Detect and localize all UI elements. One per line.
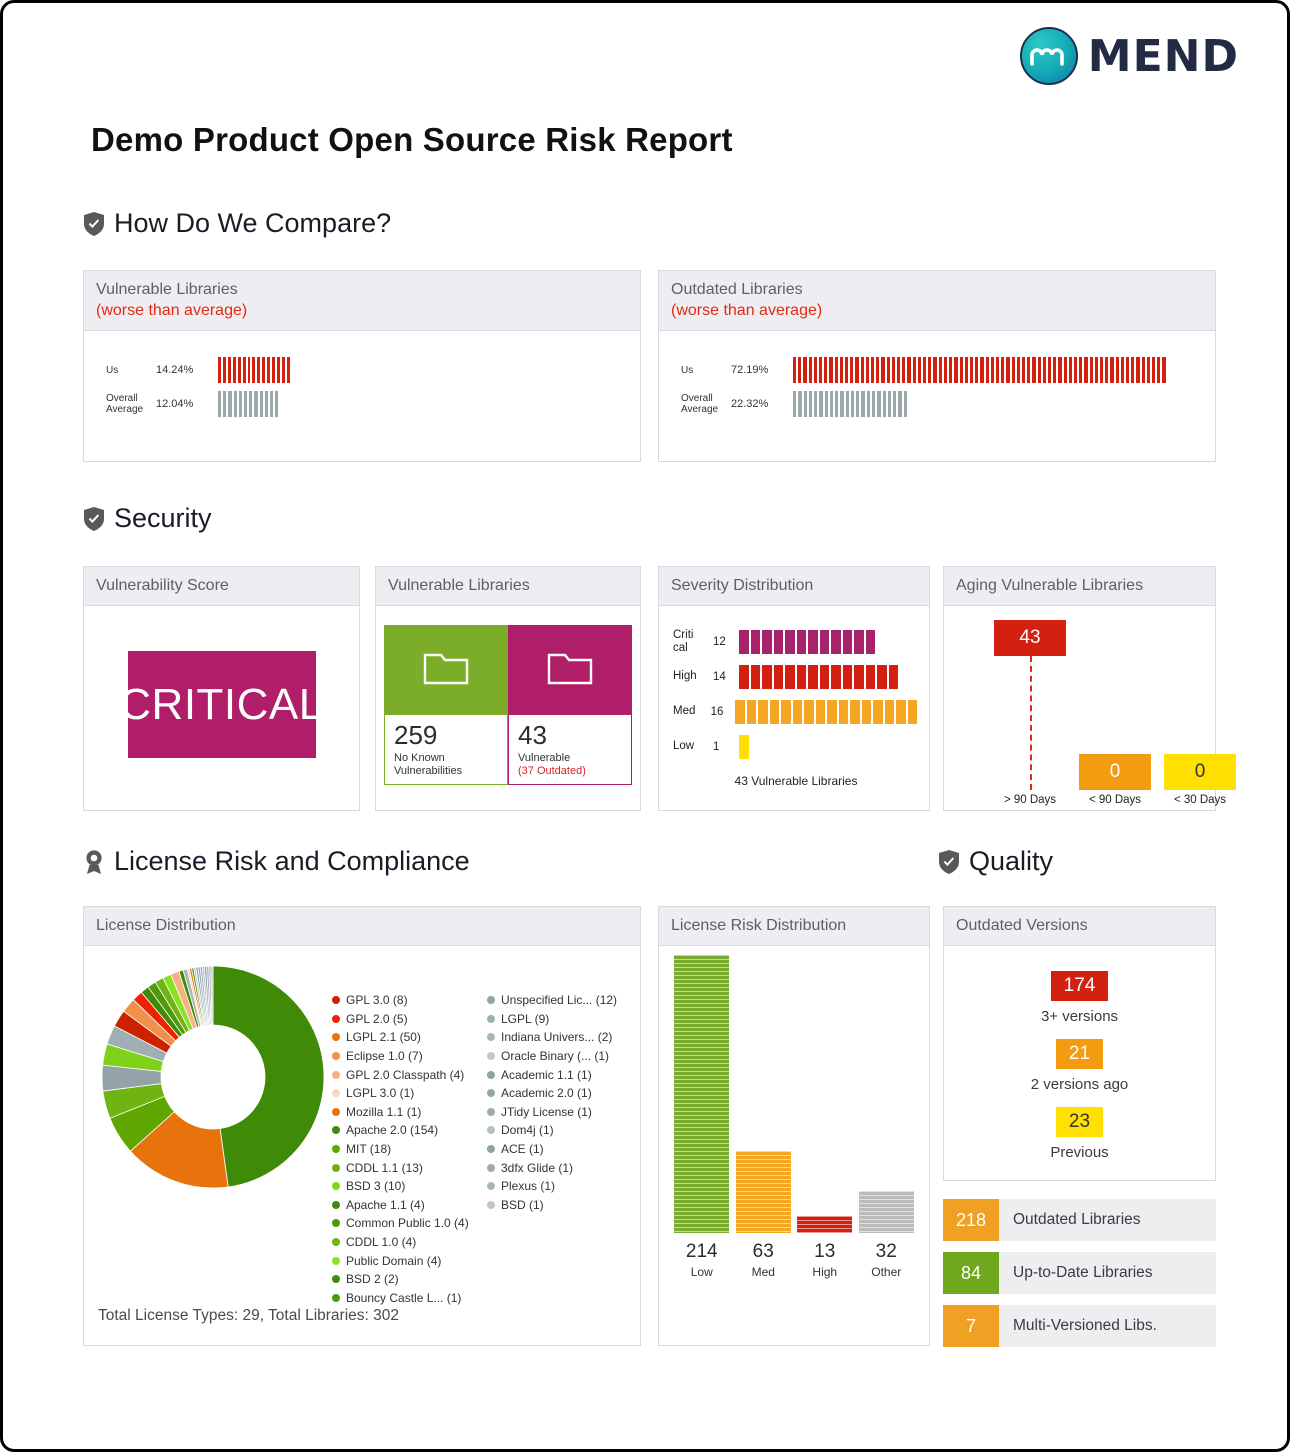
bar-segment (233, 357, 236, 383)
legend-item: GPL 2.0 Classpath (4) (332, 1065, 469, 1084)
card-license-risk-distribution: License Risk Distribution 214Low63Med13H… (658, 906, 930, 1346)
bar-segment (1053, 357, 1056, 383)
bar-segment (883, 391, 886, 417)
brand-logo: MEND (1020, 27, 1239, 85)
bar-segment (845, 357, 848, 383)
bar-segment (830, 391, 833, 417)
legend-dot (332, 1201, 340, 1209)
bar-segment (877, 665, 887, 689)
legend-label: Eclipse 1.0 (7) (346, 1049, 423, 1063)
quality-stat-list: 218Outdated Libraries84Up-to-Date Librar… (943, 1199, 1216, 1358)
legend-dot (487, 996, 495, 1004)
bar-segment (907, 357, 910, 383)
bar-segment (820, 665, 830, 689)
section-security-title: Security (114, 503, 212, 534)
legend-item: Dom4j (1) (487, 1121, 617, 1140)
card-title: Severity Distribution (671, 577, 813, 594)
legend-item: GPL 3.0 (8) (332, 991, 469, 1010)
vulnerable-label-text: Vulnerable (518, 752, 570, 764)
bar-segment (889, 665, 899, 689)
legend-item: Oracle Binary (... (1) (487, 1047, 617, 1066)
bar-segment (739, 735, 749, 759)
bar-segment (267, 357, 270, 383)
bar-segment (980, 357, 983, 383)
bar-segment (809, 391, 812, 417)
legend-dot (487, 1033, 495, 1041)
legend-item: Apache 2.0 (154) (332, 1121, 469, 1140)
bar-segment (850, 700, 860, 724)
bar-segment (248, 357, 251, 383)
bar-segment (888, 391, 891, 417)
aging-value-box: 43 (994, 620, 1066, 656)
legend-dot (487, 1126, 495, 1134)
bar-segment (814, 357, 817, 383)
bar-segment (808, 630, 818, 654)
bar-segment (933, 357, 936, 383)
license-donut-chart (102, 966, 324, 1193)
stat-row: 7Multi-Versioned Libs. (943, 1305, 1216, 1347)
bar-segment (850, 357, 853, 383)
bar-segment (228, 357, 231, 383)
severity-footer: 43 Vulnerable Libraries (673, 774, 919, 788)
card-header: License Distribution (84, 907, 640, 946)
bar-segment (785, 665, 795, 689)
legend-label: Public Domain (4) (346, 1254, 441, 1268)
aging-label: < 90 Days (1079, 794, 1151, 806)
legend-label: Mozilla 1.1 (1) (346, 1105, 421, 1119)
bar-segment (898, 391, 901, 417)
risk-bar (736, 1151, 791, 1233)
legend-dot (332, 1033, 340, 1041)
legend-dot (332, 1015, 340, 1023)
risk-bar-label: Other (859, 1265, 914, 1279)
card-header: Outdated Libraries (worse than average) (659, 271, 1215, 331)
legend-label: CDDL 1.1 (13) (346, 1161, 423, 1175)
severity-value: 14 (713, 671, 739, 683)
aging-label: < 30 Days (1164, 794, 1236, 806)
compare-row-value: 72.19% (731, 364, 793, 376)
bar-segment (897, 357, 900, 383)
legend-label: LGPL (9) (501, 1012, 549, 1026)
bar-segment (1095, 357, 1098, 383)
legend-dot (332, 1089, 340, 1097)
legend-label: Academic 2.0 (1) (501, 1086, 592, 1100)
bar-segment (249, 391, 252, 417)
legend-dot (332, 1108, 340, 1116)
legend-label: 3dfx Glide (1) (501, 1161, 573, 1175)
legend-item: Indiana Univers... (2) (487, 1028, 617, 1047)
severity-label: Critical (673, 629, 713, 653)
bar-segment (1116, 357, 1119, 383)
bar-segment (804, 391, 807, 417)
legend-dot (332, 1126, 340, 1134)
bar-segment (809, 357, 812, 383)
bar-segment (928, 357, 931, 383)
bar-segment (218, 391, 221, 417)
legend-dot (487, 1164, 495, 1172)
stat-row: 84Up-to-Date Libraries (943, 1252, 1216, 1294)
legend-item: 3dfx Glide (1) (487, 1158, 617, 1177)
bar-segment (804, 700, 814, 724)
legend-item: CDDL 1.1 (13) (332, 1158, 469, 1177)
bar-segment (856, 391, 859, 417)
legend-label: BSD (1) (501, 1198, 544, 1212)
severity-value: 1 (713, 741, 739, 753)
legend-dot (487, 1108, 495, 1116)
bar-segment (762, 665, 772, 689)
legend-item: LGPL 3.0 (1) (332, 1084, 469, 1103)
compare-row-label: OverallAverage (659, 393, 731, 415)
vulnerable-label: Vulnerable (37 Outdated) (518, 752, 622, 780)
card-license-distribution: License Distribution GPL 3.0 (8)GPL 2.0 … (83, 906, 641, 1346)
severity-bar (739, 630, 877, 654)
bar-segment (785, 630, 795, 654)
aging-label: > 90 Days (994, 794, 1066, 806)
bar-segment (1131, 357, 1134, 383)
bar-segment (1043, 357, 1046, 383)
compare-row: Us72.19% (659, 353, 1215, 387)
severity-row: Med16 (673, 694, 919, 729)
brand-name: MEND (1088, 31, 1239, 82)
compare-row: OverallAverage12.04% (84, 387, 640, 421)
bar-segment (287, 357, 290, 383)
legend-item: Eclipse 1.0 (7) (332, 1047, 469, 1066)
card-header: Aging Vulnerable Libraries (944, 567, 1215, 606)
bar-segment (1110, 357, 1113, 383)
safe-count: 259 (394, 722, 498, 748)
bar-segment (1064, 357, 1067, 383)
bar-segment (1027, 357, 1030, 383)
bar-segment (960, 357, 963, 383)
legend-label: JTidy License (1) (501, 1105, 592, 1119)
bar-segment (1162, 357, 1165, 383)
risk-bar (674, 955, 729, 1233)
bar-segment (814, 391, 817, 417)
compare-row-label: OverallAverage (84, 393, 156, 415)
legend-item: Common Public 1.0 (4) (332, 1214, 469, 1233)
risk-bar-column: 214Low (674, 955, 729, 1279)
card-title: Aging Vulnerable Libraries (956, 577, 1143, 594)
bar-segment (944, 357, 947, 383)
bar-segment (1084, 357, 1087, 383)
bar-segment (218, 357, 221, 383)
vulnerable-tile (508, 625, 632, 715)
bar-segment (762, 630, 772, 654)
bar-segment (1126, 357, 1129, 383)
legend-label: BSD 2 (2) (346, 1272, 399, 1286)
bar-segment (986, 357, 989, 383)
card-vulnerability-score: Vulnerability Score CRITICAL (83, 566, 360, 811)
bar-segment (840, 391, 843, 417)
risk-bar-value: 13 (797, 1241, 852, 1263)
bar-segment (1069, 357, 1072, 383)
bar-segment (831, 665, 841, 689)
legend-label: Apache 2.0 (154) (346, 1123, 438, 1137)
legend-dot (487, 1071, 495, 1079)
severity-rows: Critical12High14Med16Low1 (673, 624, 919, 764)
legend-label: Oracle Binary (... (1) (501, 1049, 609, 1063)
bar-segment (1038, 357, 1041, 383)
vulnerable-count: 43 (518, 722, 622, 748)
outdated-versions-body: 1743+ versions212 versions ago23Previous (944, 946, 1215, 1176)
bar-segment (739, 630, 749, 654)
severity-row: Critical12 (673, 624, 919, 659)
bar-segment (877, 391, 880, 417)
bar-segment (262, 357, 265, 383)
bar-segment (282, 357, 285, 383)
bar-segment (902, 357, 905, 383)
card-subtitle: (worse than average) (96, 302, 628, 320)
legend-item: BSD (1) (487, 1196, 617, 1215)
outdated-version-label: 2 versions ago (944, 1076, 1215, 1093)
card-title: Outdated Libraries (671, 281, 803, 298)
stat-value: 7 (943, 1305, 999, 1347)
compare-row-label: Us (84, 365, 156, 376)
card-vulnerable-libraries: Vulnerable Libraries 259 No KnownVulnera… (375, 566, 641, 811)
bar-segment (234, 391, 237, 417)
card-header: License Risk Distribution (659, 907, 929, 946)
award-ribbon-icon (83, 849, 105, 875)
bar-segment (862, 700, 872, 724)
bar-segment (228, 391, 231, 417)
bar-segment (735, 700, 745, 724)
legend-item: GPL 2.0 (5) (332, 1010, 469, 1029)
bar-segment (239, 391, 242, 417)
card-title: License Risk Distribution (671, 917, 846, 934)
aging-value-box: 0 (1164, 754, 1236, 790)
legend-label: GPL 2.0 Classpath (4) (346, 1068, 464, 1082)
folder-icon (547, 649, 593, 690)
compare-outdated-chart: Us72.19%OverallAverage22.32% (659, 331, 1215, 421)
legend-label: Indiana Univers... (2) (501, 1030, 612, 1044)
bar-segment (277, 357, 280, 383)
bar-segment (1147, 357, 1150, 383)
severity-bar (739, 735, 751, 759)
legend-label: LGPL 3.0 (1) (346, 1086, 414, 1100)
license-legend-column-1: GPL 3.0 (8)GPL 2.0 (5)LGPL 2.1 (50)Eclip… (332, 991, 469, 1307)
legend-dot (487, 1052, 495, 1060)
legend-item: BSD 2 (2) (332, 1270, 469, 1289)
outdated-version-chip: 21 (1056, 1039, 1103, 1069)
legend-label: CDDL 1.0 (4) (346, 1235, 416, 1249)
shield-check-icon (938, 849, 960, 875)
bar-segment (1100, 357, 1103, 383)
legend-dot (332, 1071, 340, 1079)
bar-segment (798, 357, 801, 383)
aging-chart: 43> 90 Days0< 90 Days0< 30 Days (944, 606, 1215, 803)
bar-segment (939, 357, 942, 383)
bar-segment (954, 357, 957, 383)
bar-segment (843, 665, 853, 689)
bar-segment (1001, 357, 1004, 383)
stat-row: 218Outdated Libraries (943, 1199, 1216, 1241)
bar-segment (1058, 357, 1061, 383)
legend-item: Apache 1.1 (4) (332, 1196, 469, 1215)
risk-bar-value: 63 (736, 1241, 791, 1263)
bar-segment (866, 630, 876, 654)
bar-segment (881, 357, 884, 383)
legend-label: Common Public 1.0 (4) (346, 1216, 469, 1230)
bar-segment (1032, 357, 1035, 383)
bar-segment (265, 391, 268, 417)
card-aging-vulnerable-libraries: Aging Vulnerable Libraries 43> 90 Days0<… (943, 566, 1216, 811)
legend-label: Academic 1.1 (1) (501, 1068, 592, 1082)
risk-bar-label: Low (674, 1265, 729, 1279)
stat-label: Up-to-Date Libraries (999, 1252, 1153, 1294)
compare-row-value: 12.04% (156, 398, 218, 410)
legend-dot (332, 1294, 340, 1302)
bar-segment (861, 357, 864, 383)
bar-segment (1074, 357, 1077, 383)
legend-item: ACE (1) (487, 1140, 617, 1159)
compare-row-label: Us (659, 365, 731, 376)
bar-segment (831, 630, 841, 654)
bar-segment (819, 357, 822, 383)
compare-row-bar (218, 357, 292, 383)
bar-segment (918, 357, 921, 383)
risk-bar-column: 13High (797, 1216, 852, 1279)
legend-dot (332, 1257, 340, 1265)
safe-tile (384, 625, 508, 715)
legend-dot (487, 1145, 495, 1153)
legend-item: Bouncy Castle L... (1) (332, 1289, 469, 1308)
card-subtitle: (worse than average) (671, 302, 1203, 320)
legend-item: LGPL 2.1 (50) (332, 1028, 469, 1047)
bar-segment (843, 630, 853, 654)
legend-label: Dom4j (1) (501, 1123, 554, 1137)
severity-label: Med (673, 705, 711, 717)
severity-label: High (673, 670, 713, 682)
bar-segment (855, 357, 858, 383)
card-outdated-libraries-compare: Outdated Libraries (worse than average) … (658, 270, 1216, 462)
bar-segment (781, 700, 791, 724)
bar-segment (1022, 357, 1025, 383)
section-compare-title: How Do We Compare? (114, 208, 391, 239)
legend-dot (332, 996, 340, 1004)
license-risk-body: 214Low63Med13High32Other (659, 946, 929, 1341)
legend-dot (332, 1182, 340, 1190)
bar-segment (904, 391, 907, 417)
legend-label: BSD 3 (10) (346, 1179, 405, 1193)
legend-label: MIT (18) (346, 1142, 391, 1156)
bar-segment (243, 357, 246, 383)
bar-segment (840, 357, 843, 383)
risk-bar (859, 1191, 914, 1233)
card-outdated-versions: Outdated Versions 1743+ versions212 vers… (943, 906, 1216, 1181)
legend-dot (332, 1145, 340, 1153)
bar-segment (774, 665, 784, 689)
card-title: Outdated Versions (956, 917, 1088, 934)
aging-value-box: 0 (1079, 754, 1151, 790)
bar-segment (876, 357, 879, 383)
bar-segment (996, 357, 999, 383)
bar-segment (739, 665, 749, 689)
bar-segment (835, 357, 838, 383)
card-title: Vulnerable Libraries (388, 577, 530, 594)
donut-slice (213, 966, 324, 1187)
compare-row-bar (793, 391, 909, 417)
bar-segment (887, 357, 890, 383)
legend-label: Unspecified Lic... (12) (501, 993, 617, 1007)
section-security-heading: Security (83, 503, 212, 534)
legend-dot (487, 1015, 495, 1023)
risk-bar-value: 214 (674, 1241, 729, 1263)
section-compare-heading: How Do We Compare? (83, 208, 391, 239)
bar-segment (758, 700, 768, 724)
bar-segment (1017, 357, 1020, 383)
shield-check-icon (83, 506, 105, 532)
legend-label: Apache 1.1 (4) (346, 1198, 425, 1212)
card-header: Severity Distribution (659, 567, 929, 606)
bar-segment (1136, 357, 1139, 383)
vulnerable-libraries-body: 259 No KnownVulnerabilities 43 Vulnerabl… (376, 606, 640, 803)
bar-segment (975, 357, 978, 383)
bar-segment (872, 391, 875, 417)
bar-segment (820, 630, 830, 654)
bar-segment (913, 357, 916, 383)
bar-segment (835, 391, 838, 417)
bar-segment (851, 391, 854, 417)
folder-icon (423, 649, 469, 690)
aging-stem (1030, 656, 1032, 790)
legend-item: JTidy License (1) (487, 1103, 617, 1122)
bar-segment (244, 391, 247, 417)
legend-item: MIT (18) (332, 1140, 469, 1159)
bar-segment (893, 391, 896, 417)
bar-segment (871, 357, 874, 383)
bar-segment (1090, 357, 1093, 383)
bar-segment (949, 357, 952, 383)
legend-dot (332, 1164, 340, 1172)
bar-segment (1121, 357, 1124, 383)
bar-segment (223, 391, 226, 417)
bar-segment (1105, 357, 1108, 383)
severity-bar (735, 700, 919, 724)
legend-item: Mozilla 1.1 (1) (332, 1103, 469, 1122)
legend-label: GPL 3.0 (8) (346, 993, 408, 1007)
bar-segment (827, 700, 837, 724)
severity-row: High14 (673, 659, 919, 694)
page-title: Demo Product Open Source Risk Report (91, 121, 733, 159)
bar-segment (1152, 357, 1155, 383)
compare-row-value: 22.32% (731, 398, 793, 410)
card-header: Vulnerability Score (84, 567, 359, 606)
legend-label: Plexus (1) (501, 1179, 555, 1193)
compare-row-value: 14.24% (156, 364, 218, 376)
bar-segment (252, 357, 255, 383)
legend-dot (332, 1219, 340, 1227)
bar-segment (829, 357, 832, 383)
bar-segment (839, 700, 849, 724)
severity-bar (739, 665, 900, 689)
bar-segment (892, 357, 895, 383)
stat-label: Outdated Libraries (999, 1199, 1141, 1241)
legend-label: Bouncy Castle L... (1) (346, 1291, 461, 1305)
compare-row: Us14.24% (84, 353, 640, 387)
bar-segment (751, 665, 761, 689)
bar-segment (1006, 357, 1009, 383)
bar-segment (803, 357, 806, 383)
legend-label: GPL 2.0 (5) (346, 1012, 408, 1026)
compare-row: OverallAverage22.32% (659, 387, 1215, 421)
bar-segment (272, 357, 275, 383)
outdated-version-chip: 23 (1056, 1107, 1103, 1137)
card-title: Vulnerability Score (96, 577, 229, 594)
bar-segment (965, 357, 968, 383)
compare-row-bar (793, 357, 1168, 383)
severity-distribution-body: Critical12High14Med16Low1 43 Vulnerable … (659, 606, 929, 788)
risk-bar-column: 63Med (736, 1151, 791, 1279)
